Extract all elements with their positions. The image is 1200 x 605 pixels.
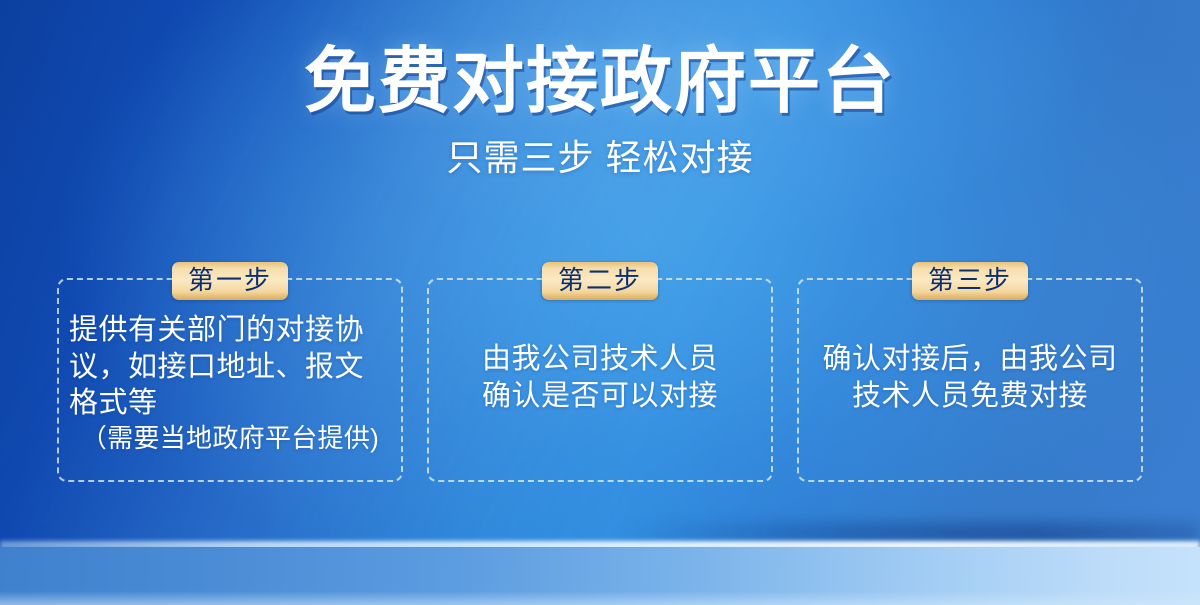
horizon-shade-decoration [620,522,1200,546]
step-1-note: （需要当地政府平台提供) [69,422,391,455]
step-2-body: 由我公司技术人员 确认是否可以对接 [427,278,773,482]
floor-plane-decoration [0,547,1200,605]
step-2-line-1: 由我公司技术人员 [439,341,761,378]
banner-title: 免费对接政府平台 [0,0,1200,118]
step-1-body: 提供有关部门的对接协 议，如接口地址、报文 格式等 （需要当地政府平台提供) [57,278,403,482]
step-card-2: 第二步 由我公司技术人员 确认是否可以对接 [427,262,773,482]
step-2-line-2: 确认是否可以对接 [439,378,761,415]
banner-header: 免费对接政府平台 只需三步 轻松对接 [0,0,1200,176]
step-1-line-3: 格式等 [69,385,391,422]
step-3-body: 确认对接后，由我公司 技术人员免费对接 [797,278,1143,482]
step-3-line-2: 技术人员免费对接 [809,378,1131,415]
step-card-1: 第一步 提供有关部门的对接协 议，如接口地址、报文 格式等 （需要当地政府平台提… [57,262,403,482]
banner-subtitle: 只需三步 轻松对接 [0,118,1200,176]
step-2-badge: 第二步 [542,262,658,300]
step-1-badge: 第一步 [172,262,288,300]
step-1-line-2: 议，如接口地址、报文 [69,349,391,386]
step-3-line-1: 确认对接后，由我公司 [809,341,1131,378]
promo-banner: 免费对接政府平台 只需三步 轻松对接 第一步 提供有关部门的对接协 议，如接口地… [0,0,1200,605]
step-card-3: 第三步 确认对接后，由我公司 技术人员免费对接 [797,262,1143,482]
step-1-line-1: 提供有关部门的对接协 [69,312,391,349]
steps-container: 第一步 提供有关部门的对接协 议，如接口地址、报文 格式等 （需要当地政府平台提… [57,262,1143,484]
step-3-badge: 第三步 [912,262,1028,300]
